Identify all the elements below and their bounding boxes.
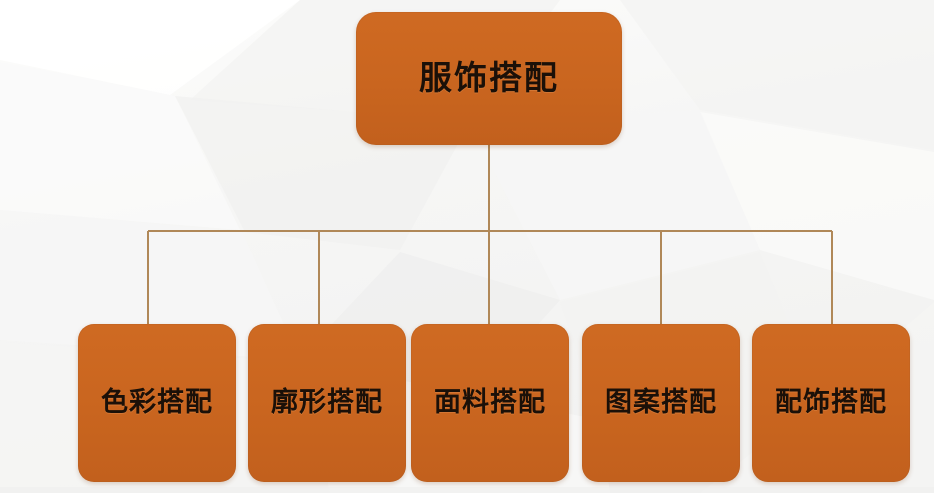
node-pattern-matching-label: 图案搭配 (597, 387, 725, 419)
node-silhouette-matching[interactable]: 廓形搭配 (248, 324, 406, 482)
node-pattern-matching[interactable]: 图案搭配 (582, 324, 740, 482)
node-silhouette-matching-label: 廓形搭配 (263, 387, 391, 419)
root-node-label: 服饰搭配 (411, 59, 567, 98)
node-accessory-matching-label: 配饰搭配 (767, 387, 895, 419)
node-accessory-matching[interactable]: 配饰搭配 (752, 324, 910, 482)
node-fabric-matching-label: 面料搭配 (426, 387, 554, 419)
root-node[interactable]: 服饰搭配 (356, 12, 622, 145)
node-color-matching[interactable]: 色彩搭配 (78, 324, 236, 482)
node-fabric-matching[interactable]: 面料搭配 (411, 324, 569, 482)
node-color-matching-label: 色彩搭配 (93, 387, 221, 419)
diagram-canvas: 服饰搭配 色彩搭配 廓形搭配 面料搭配 图案搭配 配饰搭配 (0, 0, 934, 493)
